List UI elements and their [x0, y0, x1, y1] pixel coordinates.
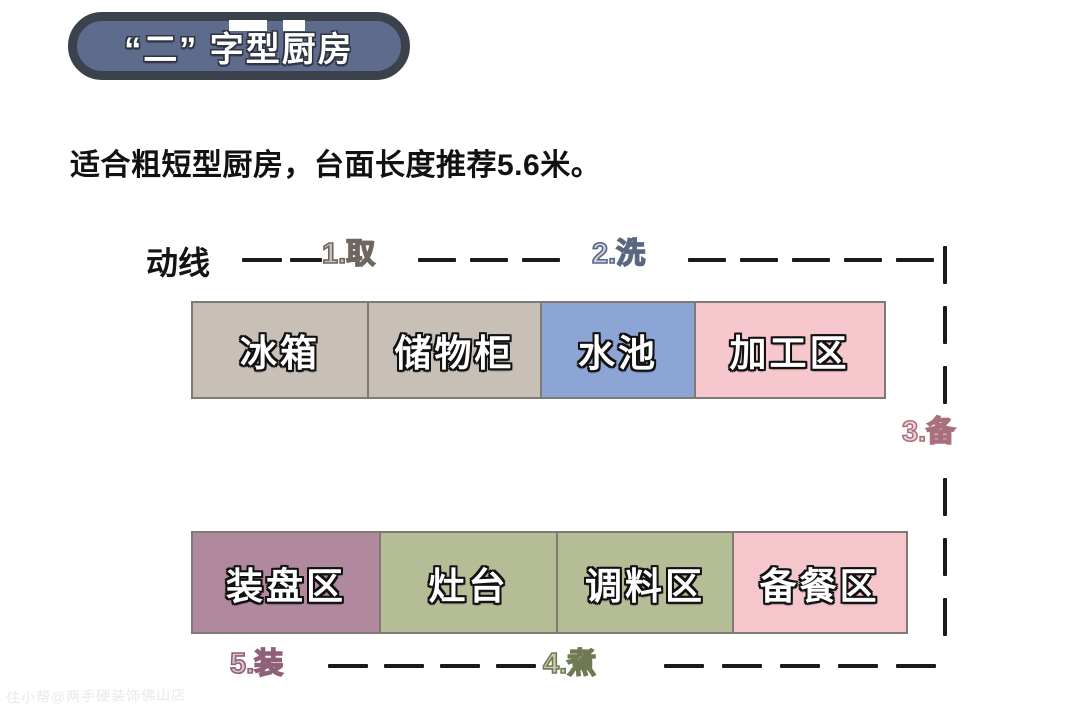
flow-dash-bottom	[838, 664, 878, 668]
unit-storage-cabinet[interactable]: 储物柜	[367, 301, 543, 399]
flow-dash-bottom	[896, 664, 936, 668]
flow-dash-right	[943, 478, 947, 516]
unit-fridge[interactable]: 冰箱	[191, 301, 369, 399]
flow-dash-right	[943, 598, 947, 636]
flow-dash-bottom	[496, 664, 536, 668]
unit-prep-area[interactable]: 加工区	[694, 301, 886, 399]
flow-dash-bottom	[780, 664, 820, 668]
flow-dash-top	[470, 258, 508, 262]
flow-dash-top	[242, 258, 282, 262]
unit-seasoning-area[interactable]: 调料区	[556, 531, 734, 634]
flow-dash-top	[896, 258, 934, 262]
unit-label: 储物柜	[395, 323, 515, 377]
flow-dash-right	[943, 306, 947, 344]
flow-dash-right	[943, 246, 947, 284]
unit-label: 备餐区	[760, 556, 880, 610]
flow-step-2-wash: 2.洗	[592, 240, 645, 269]
flow-dash-top	[740, 258, 778, 262]
flow-dash-bottom	[722, 664, 762, 668]
flow-dash-right	[943, 538, 947, 576]
unit-label: 冰箱	[240, 323, 320, 377]
infographic-canvas: “二” 字型厨房 适合粗短型厨房，台面长度推荐5.6米。 动线 1.取 2.洗 …	[0, 0, 1080, 719]
pill-notch-left	[229, 20, 267, 31]
flow-dash-top	[418, 258, 456, 262]
subtitle-text: 适合粗短型厨房，台面长度推荐5.6米。	[70, 140, 601, 184]
flow-dash-top	[522, 258, 560, 262]
unit-label: 灶台	[429, 556, 509, 610]
unit-sink[interactable]: 水池	[540, 301, 696, 399]
unit-label: 水池	[578, 323, 658, 377]
flow-step-4-cook: 4.煮	[543, 650, 596, 679]
flow-dash-top	[792, 258, 830, 262]
unit-label: 调料区	[585, 556, 705, 610]
bottom-counter-row: 装盘区 灶台 调料区 备餐区	[191, 531, 908, 634]
unit-label: 加工区	[730, 323, 850, 377]
flow-dash-bottom	[440, 664, 480, 668]
unit-stove[interactable]: 灶台	[379, 531, 559, 634]
unit-label: 装盘区	[226, 556, 346, 610]
top-counter-row: 冰箱 储物柜 水池 加工区	[191, 301, 886, 399]
flow-dash-bottom	[384, 664, 424, 668]
unit-serving-area[interactable]: 备餐区	[732, 531, 908, 634]
title-pill	[68, 12, 410, 80]
flow-dash-bottom	[664, 664, 704, 668]
pill-notch-right	[283, 20, 305, 31]
flow-step-3-prep: 3.备	[902, 418, 955, 447]
flow-dash-top	[688, 258, 726, 262]
flow-dash-top	[290, 258, 322, 262]
flow-step-5-plate: 5.装	[230, 650, 283, 679]
flow-dash-top	[844, 258, 882, 262]
flow-dash-bottom	[328, 664, 368, 668]
watermark: 住小帮@两手硬装饰佛山店	[6, 684, 187, 707]
flow-dash-right	[943, 366, 947, 404]
unit-plating-area[interactable]: 装盘区	[191, 531, 381, 634]
flow-origin-label: 动线	[146, 238, 210, 284]
flow-step-1-take: 1.取	[322, 240, 375, 269]
